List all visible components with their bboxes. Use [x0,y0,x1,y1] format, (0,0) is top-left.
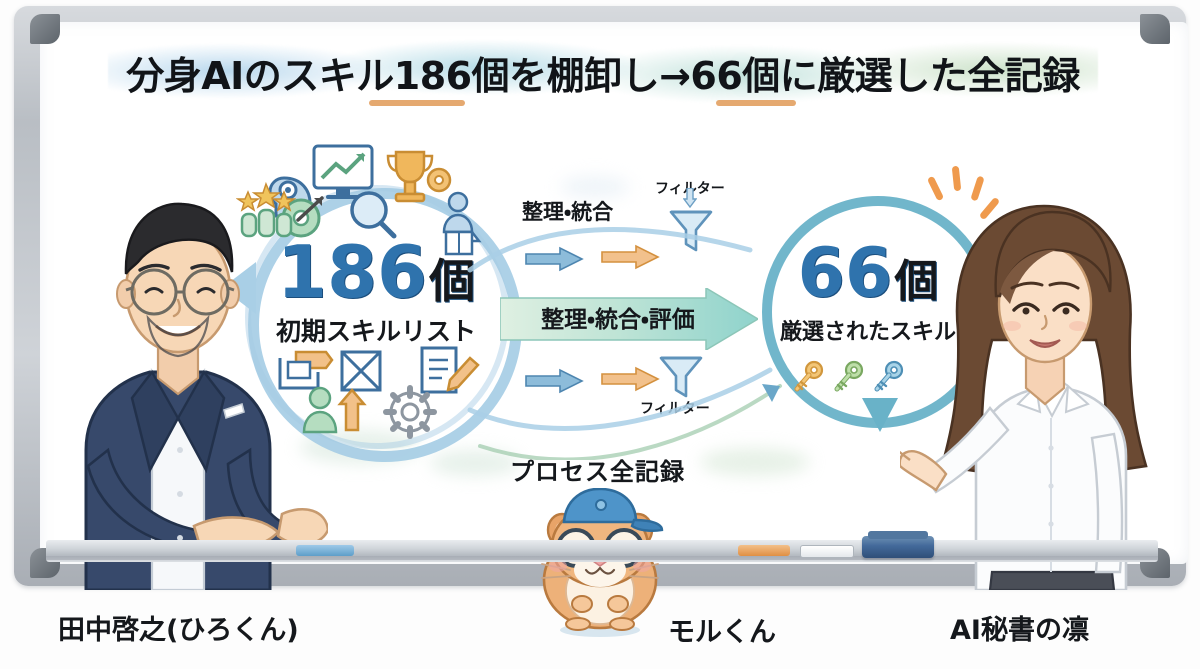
gear-icon [386,388,434,436]
person-illustration-right [900,180,1180,590]
key-green-icon [832,360,866,394]
selected-skill-number: 66 [798,234,893,313]
whiteboard-tray-edge [46,556,1158,560]
hamster-mascot [520,488,680,638]
whiteboard-corner-top-right [1140,14,1170,44]
caption-right-person: AI秘書の凛 [950,608,1089,647]
magnifier-icon [352,193,394,236]
speech-bubble-tail-right [862,398,898,432]
title-underline-186 [369,100,465,106]
marker-blue[interactable] [296,545,354,556]
marker-white[interactable] [800,545,854,558]
person-illustration-left [28,150,328,590]
page-title: 分身AIのスキル186個を棚卸し→66個に厳選した全記録 [108,43,1098,101]
key-icons-group [792,356,912,400]
grid-matrix-icon [342,352,380,390]
title-underline-66 [716,100,796,106]
marker-orange[interactable] [738,545,790,556]
key-orange-icon [792,360,826,394]
whiteboard-corner-top-left [30,14,60,44]
caption-left-person: 田中啓之(ひろくん) [58,608,299,647]
filter-down-arrow-icon [683,188,697,208]
trophy-gear-icon [388,152,450,201]
caption-mascot: モルくん [668,610,776,649]
whiteboard-eraser[interactable] [862,536,934,558]
watercolor-wash [560,176,630,198]
illustration-canvas: 分身AIのスキル186個を棚卸し→66個に厳選した全記録 186個 初期スキルリ… [0,0,1200,669]
